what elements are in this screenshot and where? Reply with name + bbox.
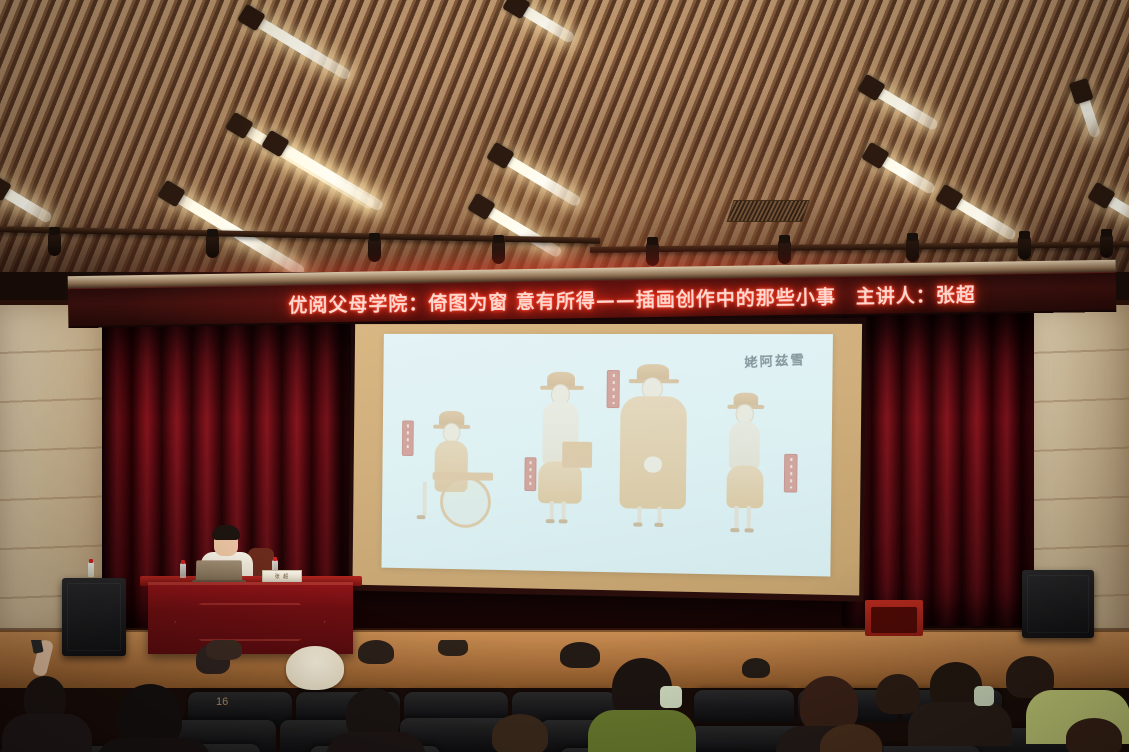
audience-member (492, 714, 548, 752)
stage-curtain-right (842, 308, 1034, 626)
slide-label-tag (607, 370, 620, 408)
figure-long-coat (619, 396, 687, 509)
smartphone (30, 640, 43, 654)
seat-number: 16 (216, 696, 228, 708)
figure-shoe (654, 523, 663, 527)
water-bottle (88, 562, 94, 577)
slide-figure-in-long-coat (609, 364, 707, 538)
figure-top (729, 421, 760, 470)
pa-speaker-right (1022, 570, 1094, 638)
slide-figure-with-satchel (530, 372, 609, 532)
ceiling-air-vent (726, 200, 809, 222)
audience-member (206, 640, 242, 660)
audience-member (438, 640, 468, 656)
sun-hat (286, 646, 344, 690)
audience-area: 16 15 14 13 12 11 10 10 (0, 640, 1129, 752)
stage-step-box (865, 600, 923, 636)
seat (694, 690, 794, 722)
figure-hands (644, 456, 662, 472)
figure-skirt (726, 465, 763, 508)
projection-screen-surface: 姥阿兹雪 (352, 324, 862, 596)
audience-member (560, 642, 600, 668)
slide-label-tag (784, 454, 798, 493)
slide-label-tag (524, 457, 536, 491)
figure-leg (734, 506, 738, 530)
figure-satchel (562, 442, 592, 468)
figure-shoe (730, 528, 739, 532)
audience-member-shoulders (2, 714, 92, 752)
figure-shoe (546, 519, 555, 523)
slide-calligraphy-title: 姥阿兹雪 (744, 349, 806, 371)
wheelchair-frame (433, 472, 494, 481)
presenter-laptop (196, 560, 243, 582)
audience-member (118, 684, 182, 746)
audience-member (1066, 718, 1122, 752)
audience-member-shoulders (326, 732, 426, 752)
presentation-slide: 姥阿兹雪 (381, 334, 832, 577)
figure-leg (423, 482, 427, 516)
table-panel-moulding (174, 603, 326, 641)
projection-screen: 姥阿兹雪 (349, 318, 867, 602)
face-mask (974, 686, 994, 706)
wheelchair-wheel (440, 476, 491, 528)
audience-member (876, 674, 920, 714)
audience-member-shoulders (588, 710, 696, 752)
audience-member (358, 640, 394, 664)
figure-shoe (744, 528, 753, 532)
figure-leg (747, 506, 751, 530)
wood-slat-ceiling (0, 0, 1129, 272)
water-bottle (180, 563, 186, 578)
figure-shoe (633, 522, 642, 526)
presenter-hair (212, 525, 240, 540)
lecture-hall-photo: 姥阿兹雪 (0, 0, 1129, 752)
audience-member (742, 658, 770, 678)
figure-shoe (417, 515, 426, 519)
figure-shoe (559, 519, 568, 523)
face-mask (660, 686, 682, 708)
audience-member-shoulders (908, 702, 1012, 746)
slide-figure-in-wheelchair (415, 411, 510, 541)
slide-figure-with-bag (716, 393, 791, 544)
audience-member-shoulders (96, 738, 212, 752)
slide-label-tag (402, 420, 414, 456)
